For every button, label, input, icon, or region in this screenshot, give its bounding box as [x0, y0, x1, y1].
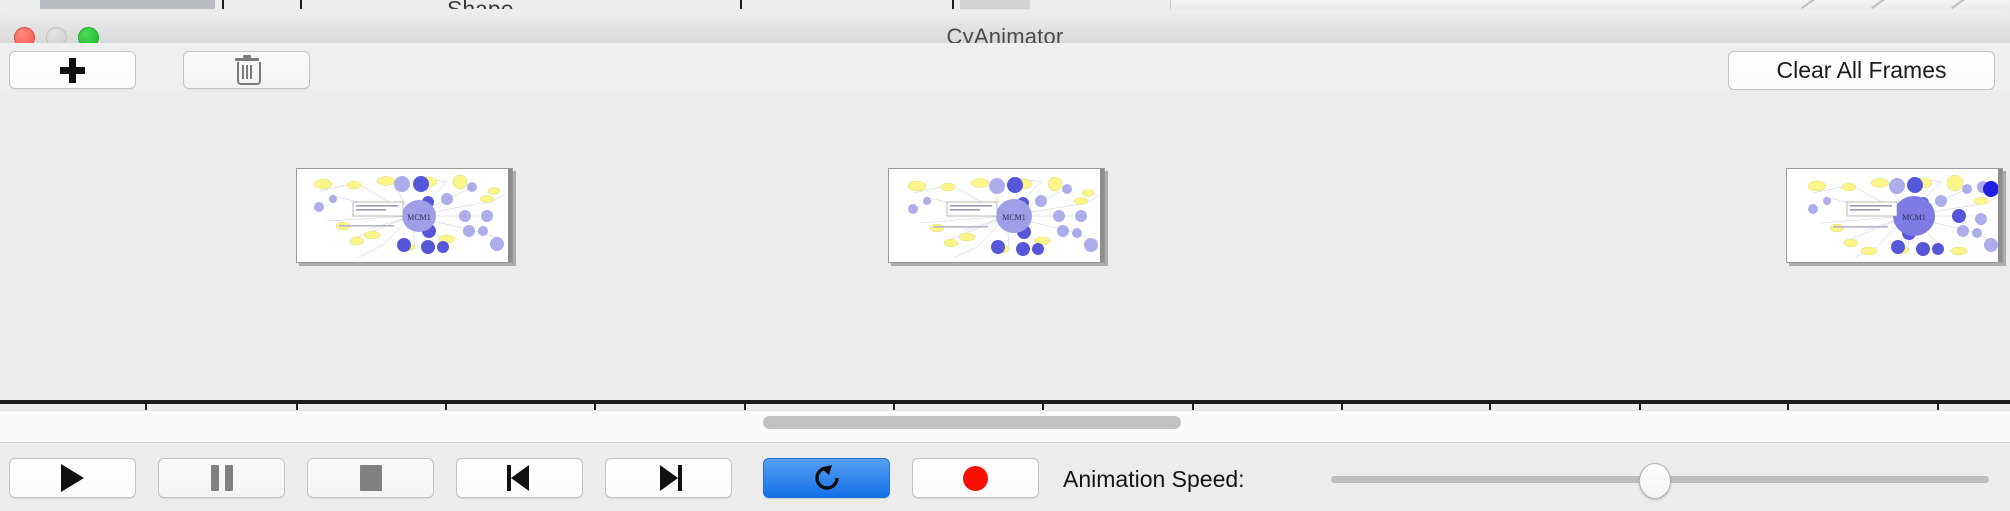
add-frame-button[interactable]: [9, 51, 136, 89]
trash-icon: [234, 56, 260, 84]
timeline-axis-line: [0, 400, 2010, 404]
play-button[interactable]: [9, 458, 136, 498]
animation-speed-label: Animation Speed:: [1063, 466, 1245, 493]
svg-text:MCM1: MCM1: [1002, 213, 1026, 222]
frame-right-edge: [1100, 169, 1104, 262]
frame-right-edge: [508, 169, 512, 262]
frame-thumbnail-2[interactable]: MCM1: [888, 168, 1105, 263]
svg-text:MCM1: MCM1: [407, 213, 431, 222]
frame-right-edge: [1998, 169, 2002, 262]
title-bar: CyAnimator: [0, 9, 2010, 45]
timeline-scrollbar-thumb[interactable]: [763, 416, 1181, 429]
loop-icon: [812, 463, 842, 493]
skip-back-icon: [507, 465, 533, 491]
frame-thumbnail-3[interactable]: MCM1: [1786, 168, 2003, 263]
record-icon: [963, 466, 988, 491]
clear-all-frames-label: Clear All Frames: [1777, 57, 1947, 84]
timeline-panel[interactable]: MCM1: [0, 90, 2010, 410]
loop-button[interactable]: [763, 458, 890, 498]
record-button[interactable]: [912, 458, 1039, 498]
prev-frame-button[interactable]: [456, 458, 583, 498]
cyanimator-window: Shape CyAnimator Clear All Frames: [0, 0, 2010, 510]
pause-button[interactable]: [158, 458, 285, 498]
next-frame-button[interactable]: [605, 458, 732, 498]
delete-frame-button[interactable]: [183, 51, 310, 89]
svg-text:MCM1: MCM1: [1902, 213, 1926, 222]
animation-speed-slider-thumb[interactable]: [1639, 463, 1671, 499]
stop-icon: [360, 465, 382, 491]
stop-button[interactable]: [307, 458, 434, 498]
frame-thumbnail-1[interactable]: MCM1: [296, 168, 513, 263]
plus-icon: [60, 58, 85, 83]
pause-icon: [211, 465, 233, 491]
play-icon: [61, 464, 84, 492]
skip-forward-icon: [656, 465, 682, 491]
clear-all-frames-button[interactable]: Clear All Frames: [1728, 51, 1995, 90]
